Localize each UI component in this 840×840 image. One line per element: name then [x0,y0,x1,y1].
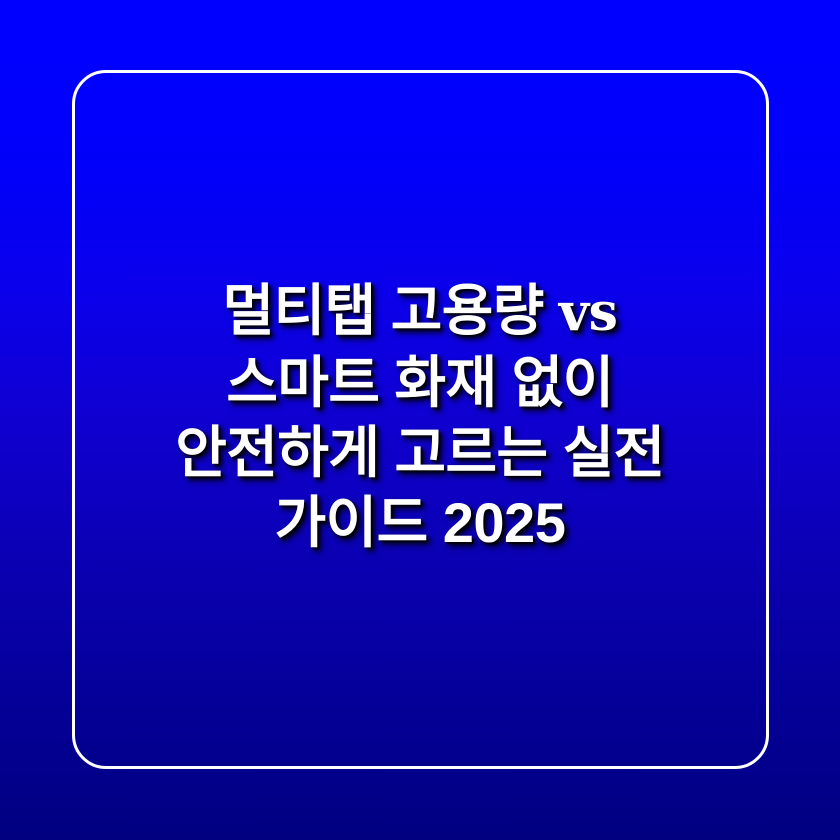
headline-line-4-year: 2025 [443,491,566,554]
headline-line-1: 멀티탭 고용량 vs [60,276,780,348]
headline-line-4: 가이드 2025 [60,488,780,558]
headline-line-1-korean: 멀티탭 고용량 [223,279,544,342]
thumbnail-card: 멀티탭 고용량 vs 스마트 화재 없이 안전하게 고르는 실전 가이드 202… [0,0,840,840]
headline-line-1-spacer [544,279,559,342]
headline-line-3: 안전하게 고르는 실전 [60,418,780,488]
headline-line-4-korean: 가이드 [275,491,428,554]
headline-line-2: 스마트 화재 없이 [60,348,780,418]
headline-line-1-latin: vs [559,282,618,343]
headline-block: 멀티탭 고용량 vs 스마트 화재 없이 안전하게 고르는 실전 가이드 202… [0,276,840,558]
headline-line-4-spacer [428,491,443,554]
